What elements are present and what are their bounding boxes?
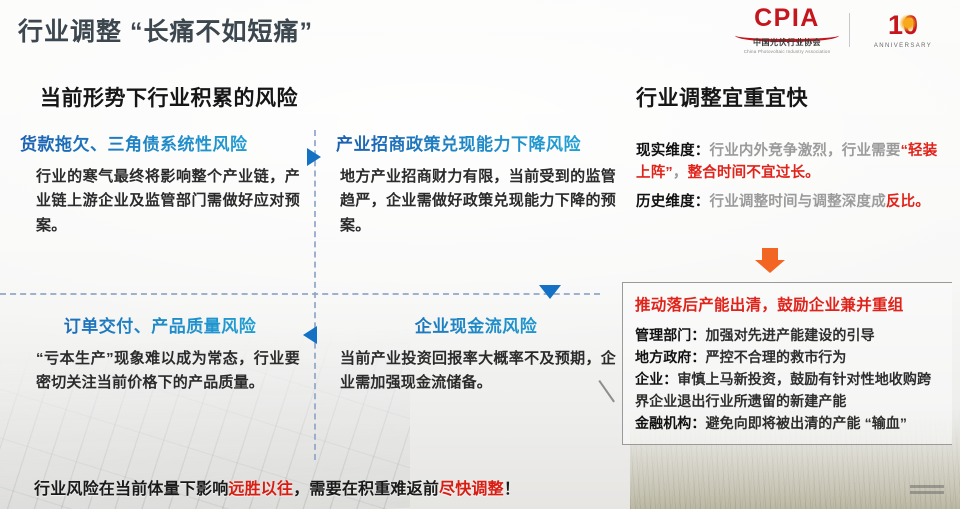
logo-divider — [849, 13, 850, 47]
action-row-financial-institution: 金融机构：避免向即将被出清的产能 “输血” — [635, 412, 944, 434]
dimension-list: 现实维度：行业内外竞争激烈，行业需要“轻装上阵”，整合时间不宜过长。 历史维度：… — [636, 140, 948, 220]
decorative-panel-mark — [910, 485, 944, 497]
arrow-right-icon — [307, 148, 321, 166]
action-box-title: 推动落后产能出清，鼓励企业兼并重组 — [635, 293, 944, 315]
cpia-logo: CPIA 中国光伏行业协会 China Photovoltaic Industr… — [735, 6, 839, 54]
risk-quadrant-grid: 货款拖欠、三角债系统性风险 行业的寒气最终将影响整个产业链，产业链上游企业及监管… — [20, 130, 600, 460]
action-row-regulator: 管理部门：加强对先进产能建设的引导 — [635, 324, 944, 346]
dimension-reality-label: 现实维度： — [636, 143, 710, 159]
dimension-history-text-1: 行业调整时间与调整深度成 — [710, 194, 886, 210]
presentation-slide: 行业调整 “长痛不如短痛” CPIA 中国光伏行业协会 China Photov… — [0, 0, 960, 509]
action-row-enterprise-who: 企业： — [635, 371, 677, 387]
caption-highlight-1: 远胜以往 — [228, 481, 293, 498]
dimension-reality-highlight-2: 整合时间不宜过长。 — [688, 165, 820, 181]
risk-quadrant-1-body: 行业的寒气最终将影响整个产业链，产业链上游企业及监管部门需做好应对预案。 — [20, 165, 300, 238]
action-row-enterprise-what: 审慎上马新投资，鼓励有针对性地收购跨界企业退出行业所遗留的新建产能 — [635, 371, 931, 409]
risk-quadrant-2[interactable]: 产业招商政策兑现能力下降风险 地方产业招商财力有限，当前受到的监管趋严，企业需做… — [336, 130, 616, 238]
dimension-history-highlight-1: 反比。 — [886, 194, 930, 210]
anniversary-logo: 10 ANNIVERSARY — [860, 12, 946, 49]
risk-quadrant-4-title: 企业现金流风险 — [336, 312, 616, 337]
risk-quadrant-1-title: 货款拖欠、三角债系统性风险 — [20, 130, 300, 155]
dimension-row-history: 历史维度：行业调整时间与调整深度成反比。 — [636, 191, 948, 213]
action-row-local-government-what: 严控不合理的救市行为 — [706, 349, 847, 365]
caption-highlight-2: 尽快调整 — [439, 481, 504, 498]
action-row-local-government: 地方政府：严控不合理的救市行为 — [635, 346, 944, 368]
dimension-history-label: 历史维度： — [636, 194, 710, 210]
caption-part-2: ，需要在积重难返前 — [293, 481, 439, 498]
sunburst-icon — [899, 14, 917, 32]
anniversary-number: 10 — [888, 12, 918, 39]
risk-quadrant-1[interactable]: 货款拖欠、三角债系统性风险 行业的寒气最终将影响整个产业链，产业链上游企业及监管… — [20, 130, 300, 238]
page-title: 行业调整 “长痛不如短痛” — [18, 12, 313, 48]
arrow-left-icon — [303, 326, 317, 344]
risk-quadrant-3-title: 订单交付、产品质量风险 — [20, 312, 300, 337]
risk-quadrant-2-title: 产业招商政策兑现能力下降风险 — [336, 130, 616, 155]
action-row-financial-institution-what: 避免向即将被出清的产能 “输血” — [706, 415, 908, 431]
arrow-down-orange-icon — [762, 248, 778, 260]
cpia-chinese-name: 中国光伏行业协会 — [735, 37, 839, 48]
dimension-reality-text-2: ， — [673, 165, 688, 181]
risk-quadrant-4-body: 当前产业投资回报率大概率不及预期，企业需加强现金流储备。 — [336, 347, 616, 396]
action-row-regulator-what: 加强对先进产能建设的引导 — [706, 327, 875, 343]
cpia-english-name: China Photovoltaic Industry Association — [735, 49, 839, 54]
risk-quadrant-2-body: 地方产业招商财力有限，当前受到的监管趋严，企业需做好政策兑现能力下降的预案。 — [336, 165, 616, 238]
risk-quadrant-3-body: “亏本生产”现象难以成为常态，行业要密切关注当前价格下的产品质量。 — [20, 347, 300, 396]
caption-part-1: 行业风险在当前体量下影响 — [34, 481, 228, 498]
risk-quadrant-3[interactable]: 订单交付、产品质量风险 “亏本生产”现象难以成为常态，行业要密切关注当前价格下的… — [20, 312, 300, 396]
dimension-reality-text-1: 行业内外竞争激烈，行业需要 — [710, 143, 901, 159]
action-row-regulator-who: 管理部门： — [635, 327, 706, 343]
action-row-enterprise: 企业：审慎上马新投资，鼓励有针对性地收购跨界企业退出行业所遗留的新建产能 — [635, 368, 944, 412]
caption-part-3: ！ — [504, 481, 520, 498]
left-section-heading: 当前形势下行业积累的风险 — [40, 82, 298, 112]
action-recommendation-box[interactable]: 推动落后产能出清，鼓励企业兼并重组 管理部门：加强对先进产能建设的引导 地方政府… — [622, 282, 952, 445]
logo-area: CPIA 中国光伏行业协会 China Photovoltaic Industr… — [735, 6, 946, 54]
dimension-row-reality: 现实维度：行业内外竞争激烈，行业需要“轻装上阵”，整合时间不宜过长。 — [636, 140, 948, 184]
arrow-down-icon — [539, 285, 561, 299]
risk-quadrant-4[interactable]: 企业现金流风险 当前产业投资回报率大概率不及预期，企业需加强现金流储备。 — [336, 312, 616, 396]
horizontal-dashed-divider — [0, 293, 600, 295]
action-row-local-government-who: 地方政府： — [635, 349, 706, 365]
anniversary-label: ANNIVERSARY — [860, 43, 946, 49]
vertical-dashed-divider — [314, 130, 316, 460]
action-row-financial-institution-who: 金融机构： — [635, 415, 706, 431]
cpia-wordmark: CPIA — [735, 6, 839, 31]
bottom-caption: 行业风险在当前体量下影响远胜以往，需要在积重难返前尽快调整！ — [34, 475, 520, 499]
right-section-heading: 行业调整宜重宜快 — [636, 82, 808, 112]
